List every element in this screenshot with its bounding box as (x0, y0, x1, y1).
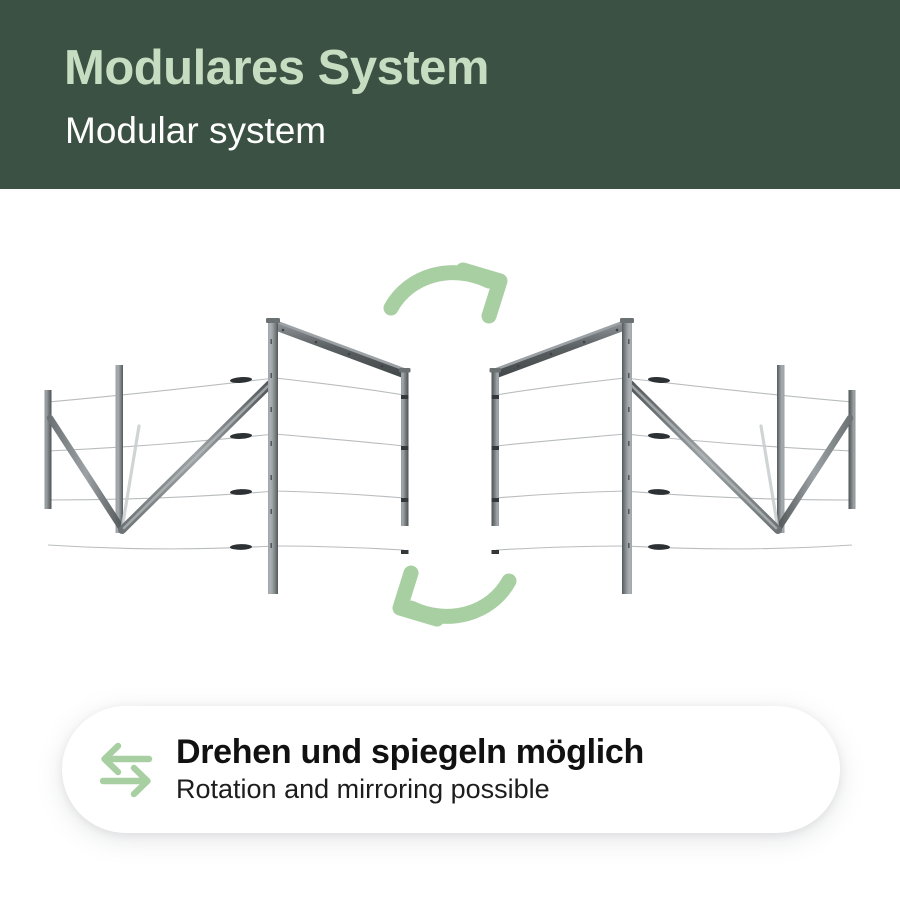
left-module (45, 318, 411, 594)
right-module (490, 318, 856, 594)
post-right-outer (849, 390, 856, 509)
modular-trellis-system-diagram (0, 189, 900, 689)
wire-group-left (48, 378, 404, 550)
post-left-outer (45, 390, 52, 509)
rotate-clockwise-arrow (391, 270, 500, 316)
brace-right-diagonal (630, 384, 778, 530)
post-right-far (490, 368, 502, 554)
rotate-counterclockwise-arrow (400, 573, 509, 619)
page-header: Modulares System Modular system (0, 0, 900, 189)
wire-group-right (496, 378, 852, 550)
top-rail-left (276, 321, 406, 374)
feature-subheading: Rotation and mirroring possible (176, 773, 812, 805)
brace-left-v (50, 418, 139, 529)
feature-heading: Drehen und spiegeln möglich (176, 733, 812, 771)
page-subtitle: Modular system (65, 112, 326, 149)
infographic-page: Modulares System Modular system (0, 0, 900, 900)
top-rail-right (494, 322, 624, 374)
illustration-stage (0, 189, 900, 689)
brace-right-v (761, 418, 850, 529)
post-right-center (620, 318, 634, 594)
brace-left-diagonal (122, 384, 270, 530)
post-left-center (266, 318, 280, 594)
feature-callout-text: Drehen und spiegeln möglich Rotation and… (176, 733, 840, 805)
post-left-inner (116, 365, 124, 533)
page-title: Modulares System (64, 44, 489, 93)
post-right-inner (777, 365, 785, 533)
feature-callout-card: Drehen und spiegeln möglich Rotation and… (62, 706, 840, 833)
swap-horizontal-arrows-icon (90, 734, 162, 806)
post-left-far (399, 368, 411, 554)
